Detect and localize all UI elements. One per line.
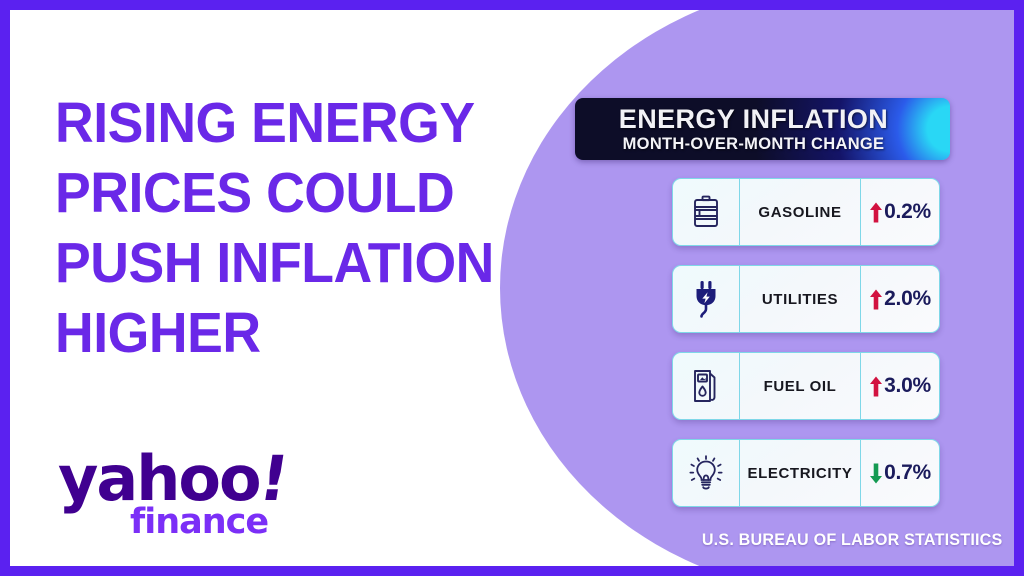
headline-line-2: PRICES COULD xyxy=(55,158,469,228)
change-value-text: 3.0% xyxy=(884,374,931,398)
oil-barrel-icon xyxy=(673,179,740,245)
change-value: 3.0% xyxy=(861,353,939,419)
headline-line-4: HIGHER xyxy=(55,298,469,368)
table-row: FUEL OIL 3.0% xyxy=(672,352,940,420)
headline-line-3: PUSH INFLATION xyxy=(55,228,469,298)
banner-text-group: ENERGY INFLATION MONTH-OVER-MONTH CHANGE xyxy=(575,98,950,160)
category-label: ELECTRICITY xyxy=(740,440,861,506)
energy-category-list: GASOLINE 0.2% xyxy=(672,178,940,526)
arrow-up-icon xyxy=(869,202,883,223)
change-value-text: 0.2% xyxy=(884,200,931,224)
source-credit: U.S. BUREAU OF LABOR STATISTIICS xyxy=(701,530,1002,550)
change-value: 0.2% xyxy=(861,179,939,245)
category-label: GASOLINE xyxy=(740,179,861,245)
change-value-text: 0.7% xyxy=(884,461,931,485)
arrow-down-icon xyxy=(869,463,883,484)
fuel-pump-icon xyxy=(673,353,740,419)
arrow-up-icon xyxy=(869,289,883,310)
energy-inflation-banner: ENERGY INFLATION MONTH-OVER-MONTH CHANGE xyxy=(575,98,950,160)
arrow-up-icon xyxy=(869,376,883,397)
category-label: FUEL OIL xyxy=(740,353,861,419)
headline-line-1: RISING ENERGY xyxy=(55,88,469,158)
headline: RISING ENERGY PRICES COULD PUSH INFLATIO… xyxy=(55,88,469,368)
banner-title: ENERGY INFLATION xyxy=(619,105,888,133)
infographic-slide: RISING ENERGY PRICES COULD PUSH INFLATIO… xyxy=(0,0,1024,576)
table-row: ELECTRICITY 0.7% xyxy=(672,439,940,507)
change-value: 2.0% xyxy=(861,266,939,332)
slide-canvas: RISING ENERGY PRICES COULD PUSH INFLATIO… xyxy=(10,10,1014,566)
yahoo-exclamation-icon: ! xyxy=(255,448,291,510)
table-row: UTILITIES 2.0% xyxy=(672,265,940,333)
change-value-text: 2.0% xyxy=(884,287,931,311)
table-row: GASOLINE 0.2% xyxy=(672,178,940,246)
yahoo-finance-logo: yahoo! finance xyxy=(58,448,308,548)
category-label: UTILITIES xyxy=(740,266,861,332)
banner-subtitle: MONTH-OVER-MONTH CHANGE xyxy=(623,135,885,154)
change-value: 0.7% xyxy=(861,440,939,506)
yahoo-wordmark: yahoo! xyxy=(58,448,308,510)
power-plug-icon xyxy=(673,266,740,332)
light-bulb-icon xyxy=(673,440,740,506)
